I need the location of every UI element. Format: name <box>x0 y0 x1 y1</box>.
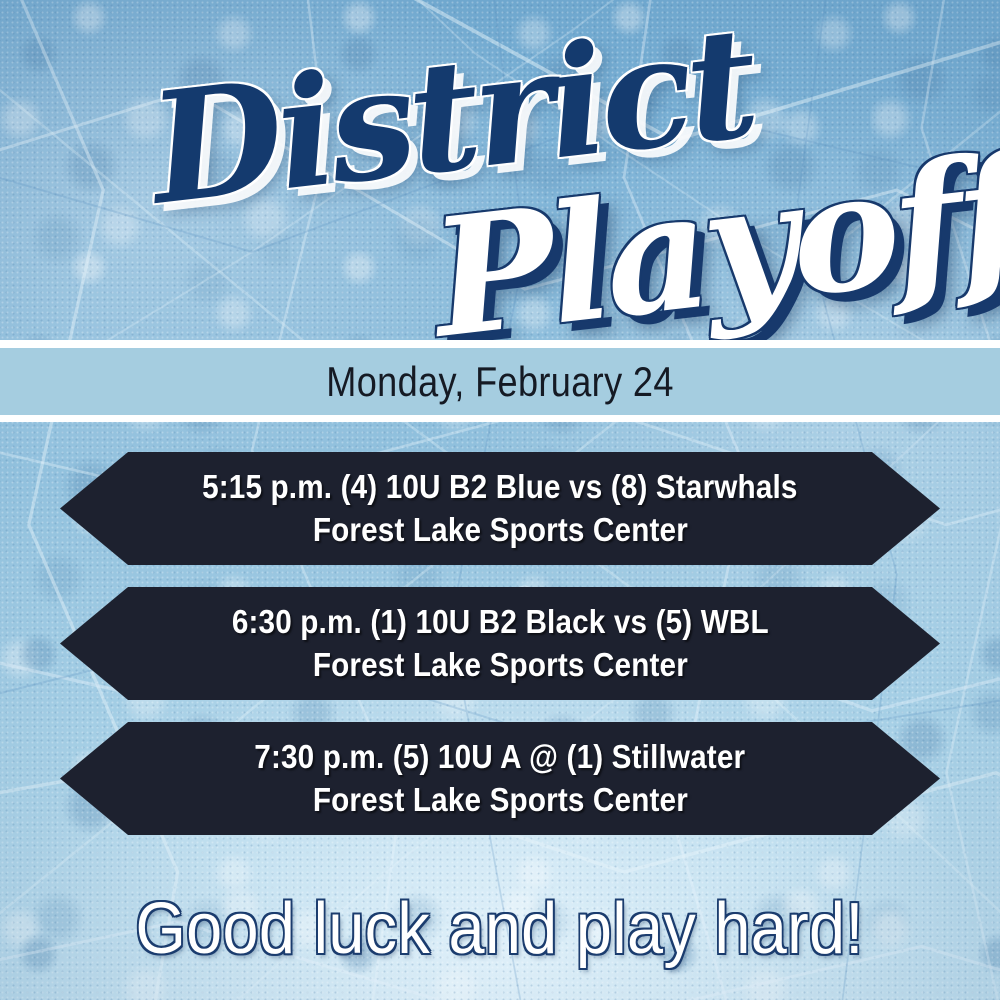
game-headline: 5:15 p.m. (4) 10U B2 Blue vs (8) Starwha… <box>202 466 798 508</box>
playoff-poster: District Playoffs Monday, February 24 5:… <box>0 0 1000 1000</box>
game-banner: 7:30 p.m. (5) 10U A @ (1) Stillwater For… <box>60 722 940 835</box>
footer-text: Good luck and play hard! <box>136 888 864 970</box>
game-venue: Forest Lake Sports Center <box>312 644 687 686</box>
game-banner: 6:30 p.m. (1) 10U B2 Black vs (5) WBL Fo… <box>60 587 940 700</box>
game-banner: 5:15 p.m. (4) 10U B2 Blue vs (8) Starwha… <box>60 452 940 565</box>
game-headline: 7:30 p.m. (5) 10U A @ (1) Stillwater <box>255 736 746 778</box>
game-venue: Forest Lake Sports Center <box>312 779 687 821</box>
game-venue: Forest Lake Sports Center <box>312 509 687 551</box>
game-list: 5:15 p.m. (4) 10U B2 Blue vs (8) Starwha… <box>0 452 1000 857</box>
poster-title: District Playoffs <box>0 0 1000 345</box>
game-headline: 6:30 p.m. (1) 10U B2 Black vs (5) WBL <box>232 601 769 643</box>
footer: Good luck and play hard! <box>0 888 1000 970</box>
date-text: Monday, February 24 <box>326 358 674 406</box>
date-banner: Monday, February 24 <box>0 340 1000 422</box>
